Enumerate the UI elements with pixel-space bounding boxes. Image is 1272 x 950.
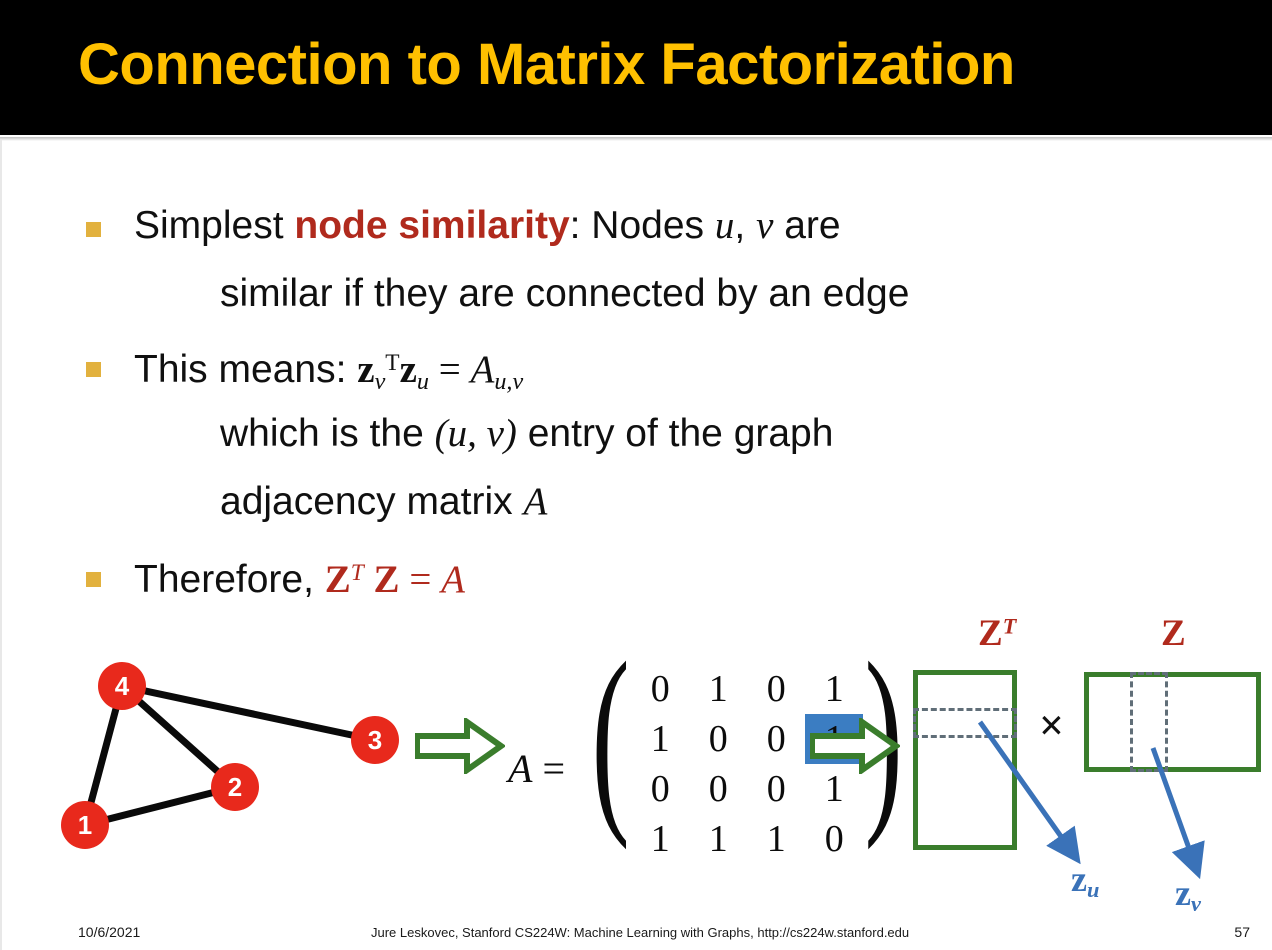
matrix-left-paren: (	[592, 650, 630, 864]
matrix-cell-3-3: 0	[805, 814, 863, 864]
factorization-diagram: ZT Z × zu zv	[880, 600, 1272, 920]
slide-title-bar: Connection to Matrix Factorization	[0, 0, 1272, 135]
title-divider	[0, 137, 1272, 141]
matrix-cell-0-0: 0	[631, 664, 689, 714]
matrix-cell-0-1: 1	[689, 664, 747, 714]
arrow-to-zu	[980, 722, 1072, 852]
block-arrow-right-icon-1	[415, 718, 505, 774]
matrix-cell-0-2: 0	[747, 664, 805, 714]
matrix-cell-1-0: 1	[631, 714, 689, 764]
bullet-square-icon	[86, 222, 101, 237]
edge-4-3	[122, 686, 375, 740]
graph-node-1-label: 1	[78, 810, 92, 840]
matrix-cell-3-0: 1	[631, 814, 689, 864]
zu-vector-label: zu	[1071, 858, 1099, 903]
bullet-square-icon	[86, 572, 101, 587]
bullet-1-line-1: Simplest node similarity: Nodes u, v are	[134, 202, 841, 249]
bullet-3-line-1: Therefore, ZT Z = A	[134, 550, 465, 603]
slide-footer: 10/6/2021 Jure Leskovec, Stanford CS224W…	[0, 918, 1272, 950]
matrix-cell-1-1: 0	[689, 714, 747, 764]
matrix-cell-1-2: 0	[747, 714, 805, 764]
node-similarity-emphasis: node similarity	[294, 204, 569, 247]
zv-vector-label: zv	[1175, 872, 1201, 917]
bullet-2-line-2: which is the (u, v) entry of the graph	[220, 410, 833, 457]
matrix-label: A =	[508, 745, 565, 792]
page-title: Connection to Matrix Factorization	[78, 36, 1015, 94]
matrix-cell-3-1: 1	[689, 814, 747, 864]
matrix-cell-2-2: 0	[747, 764, 805, 814]
footer-date: 10/6/2021	[78, 924, 140, 940]
arrow-to-zv	[1153, 748, 1195, 865]
matrix-cell-2-1: 0	[689, 764, 747, 814]
bullet-2-line-1: This means: zvTzu = Au,v	[134, 340, 523, 405]
graph-node-2-label: 2	[228, 772, 242, 802]
graph-diagram: 4 3 2 1	[40, 630, 440, 880]
matrix-cell-2-0: 0	[631, 764, 689, 814]
matrix-cell-3-2: 1	[747, 814, 805, 864]
therefore-equation: Z	[325, 558, 351, 601]
graph-node-4-label: 4	[115, 671, 130, 701]
bullet-1-line-2: similar if they are connected by an edge	[220, 270, 909, 317]
slide-body: Simplest node similarity: Nodes u, v are…	[0, 150, 1272, 620]
figure-matrix-factorization: 4 3 2 1 A = ( 0 1 0 1 1 0 0 1 0	[0, 600, 1272, 920]
bullet-2-line-3: adjacency matrix A	[220, 478, 547, 525]
graph-node-3-label: 3	[368, 725, 382, 755]
footer-page-number: 57	[1234, 924, 1250, 940]
footer-attribution: Jure Leskovec, Stanford CS224W: Machine …	[371, 925, 909, 940]
bullet-square-icon	[86, 362, 101, 377]
matrix-cell-0-3: 1	[805, 664, 863, 714]
